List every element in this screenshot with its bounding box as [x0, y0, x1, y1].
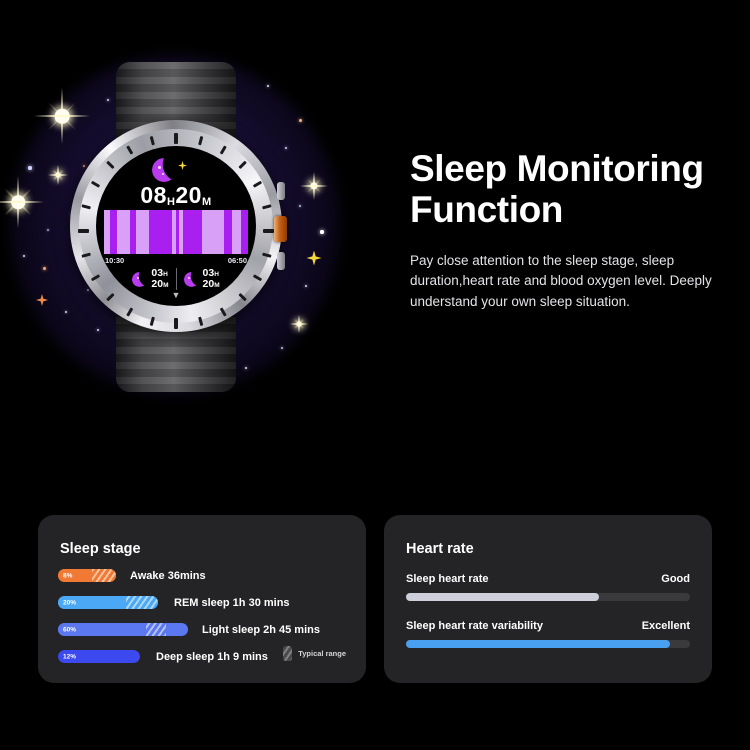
hatched-swatch-icon — [283, 646, 292, 661]
moon-icon — [184, 272, 199, 287]
sleep-stage-row: 20%REM sleep 1h 30 mins — [58, 596, 290, 609]
sleep-stage-bar: 20% — [58, 596, 158, 609]
star-dot — [43, 267, 46, 270]
hypnogram-segment — [110, 210, 117, 254]
heart-rate-row-header: Sleep heart rate variabilityExcellent — [406, 620, 690, 632]
heart-rate-progress-track — [406, 640, 690, 648]
star-dot — [299, 119, 302, 122]
bezel-tick — [219, 307, 226, 316]
bezel-tick — [198, 136, 203, 145]
heart-rate-row-header: Sleep heart rateGood — [406, 573, 690, 585]
stat-left-minutes: 20 — [151, 278, 163, 290]
hypnogram-segment — [202, 210, 224, 254]
bezel-tick — [219, 145, 226, 154]
heart-rate-metric-value: Excellent — [642, 620, 690, 632]
sleep-stage-row: 12%Deep sleep 1h 9 mins — [58, 650, 268, 663]
hypnogram-segment — [136, 210, 149, 254]
sleep-stage-row: 8%Awake 36mins — [58, 569, 206, 582]
typical-range-overlay — [146, 623, 166, 636]
star-burst-icon — [300, 172, 328, 200]
sleep-stage-label: REM sleep 1h 30 mins — [174, 597, 290, 609]
watch-stat-left: 03H 20M — [132, 268, 168, 290]
watch-side-button-bottom[interactable] — [277, 252, 285, 270]
stat-right-minutes: 20 — [203, 278, 215, 290]
typical-range-overlay — [126, 596, 158, 609]
stat-right-hours-unit: H — [214, 271, 219, 278]
sparkle-star-icon — [178, 161, 187, 170]
bezel-tick — [126, 145, 133, 154]
hero-section: 08H20M 10:30 06:50 03H 20M — [0, 0, 750, 500]
sleep-stage-bar: 60% — [58, 623, 188, 636]
bezel-tick — [174, 318, 178, 329]
bezel-tick — [78, 229, 89, 233]
chevron-down-icon[interactable]: ▼ — [172, 290, 181, 300]
star-burst-icon — [290, 315, 308, 333]
heart-rate-metric-value: Good — [661, 573, 690, 585]
heart-rate-row: Sleep heart rateGood — [406, 573, 690, 601]
stat-right-minutes-unit: M — [214, 282, 219, 289]
sleep-stage-percent: 8% — [63, 572, 72, 579]
bezel-tick — [262, 204, 271, 209]
stat-left-hours-unit: H — [163, 271, 168, 278]
bezel-tick — [106, 161, 114, 169]
hypnogram-segment — [232, 210, 241, 254]
heart-rate-progress-fill — [406, 640, 670, 648]
sleep-stage-card: Sleep stage 8%Awake 36mins20%REM sleep 1… — [38, 515, 366, 683]
bezel-tick — [238, 161, 246, 169]
hero-description: Pay close attention to the sleep stage, … — [410, 251, 740, 313]
hypnogram-segment — [183, 210, 202, 254]
bezel-tick — [262, 253, 271, 258]
page-title: Sleep MonitoringFunction — [410, 148, 740, 231]
crescent-moon-icon — [152, 158, 176, 182]
typical-range-label: Typical range — [298, 649, 346, 658]
heart-rate-progress-fill — [406, 593, 599, 601]
bezel-tick — [174, 133, 178, 144]
watch-side-button-top[interactable] — [277, 182, 285, 200]
hypnogram-segment — [117, 210, 130, 254]
heart-rate-metric-name: Sleep heart rate — [406, 573, 489, 585]
total-minutes-unit: M — [202, 196, 212, 208]
sleep-stage-row: 60%Light sleep 2h 45 mins — [58, 623, 320, 636]
heart-rate-progress-track — [406, 593, 690, 601]
stat-divider — [176, 268, 177, 290]
heart-rate-card: Heart rate Sleep heart rateGoodSleep hea… — [384, 515, 712, 683]
heart-rate-metric-name: Sleep heart rate variability — [406, 620, 543, 632]
sleep-stage-label: Deep sleep 1h 9 mins — [156, 651, 268, 663]
watch-stat-row: 03H 20M 03H 20M — [96, 268, 256, 290]
watch-crown-button[interactable] — [274, 216, 287, 242]
total-minutes: 20 — [175, 182, 202, 208]
bezel-tick — [238, 293, 246, 301]
heart-rate-row: Sleep heart rate variabilityExcellent — [406, 620, 690, 648]
bezel-tick — [198, 317, 203, 326]
sleep-duration-total: 08H20M — [96, 182, 256, 209]
bezel-tick — [263, 229, 274, 233]
heart-rate-title: Heart rate — [406, 541, 474, 557]
hypnogram-segment — [224, 210, 233, 254]
hypnogram-segment — [149, 210, 172, 254]
bezel-tick — [81, 253, 90, 258]
hypnogram-start-time: 10:30 — [105, 256, 124, 265]
bezel-tick — [149, 317, 154, 326]
watch-stat-right-value: 03H 20M — [203, 268, 220, 290]
sleep-stage-bar: 12% — [58, 650, 140, 663]
headline-line-1: Sleep Monitoring — [410, 148, 704, 189]
sleep-stage-label: Light sleep 2h 45 mins — [202, 624, 320, 636]
sleep-stage-title: Sleep stage — [60, 541, 141, 557]
watch-screen[interactable]: 08H20M 10:30 06:50 03H 20M — [96, 146, 256, 306]
total-hours-unit: H — [167, 196, 175, 208]
headline-line-2: Function — [410, 189, 563, 230]
typical-range-overlay — [92, 569, 116, 582]
hero-copy: Sleep MonitoringFunction Pay close atten… — [410, 148, 740, 312]
sleep-stage-bar: 8% — [58, 569, 116, 582]
star-dot — [28, 166, 31, 169]
bezel-tick — [126, 307, 133, 316]
watch-stat-right: 03H 20M — [184, 268, 220, 290]
moon-icon — [132, 272, 147, 287]
hypnogram-segment — [241, 210, 248, 254]
smartwatch: 08H20M 10:30 06:50 03H 20M — [62, 62, 290, 392]
total-hours: 08 — [140, 182, 167, 208]
watch-case: 08H20M 10:30 06:50 03H 20M — [70, 120, 282, 332]
typical-range-legend: Typical range — [283, 646, 346, 661]
sleep-stage-percent: 20% — [63, 599, 76, 606]
watch-stat-left-value: 03H 20M — [151, 268, 168, 290]
hypnogram-end-time: 06:50 — [228, 256, 247, 265]
stat-left-minutes-unit: M — [163, 282, 168, 289]
bezel-tick — [106, 293, 114, 301]
sleep-stage-percent: 60% — [63, 626, 76, 633]
star-dot — [320, 230, 323, 233]
bezel-tick — [81, 204, 90, 209]
bezel-tick — [149, 136, 154, 145]
star-burst-icon — [0, 176, 44, 228]
sleep-stage-label: Awake 36mins — [130, 570, 206, 582]
sleep-stage-percent: 12% — [63, 653, 76, 660]
sleep-hypnogram-chart — [104, 210, 248, 254]
